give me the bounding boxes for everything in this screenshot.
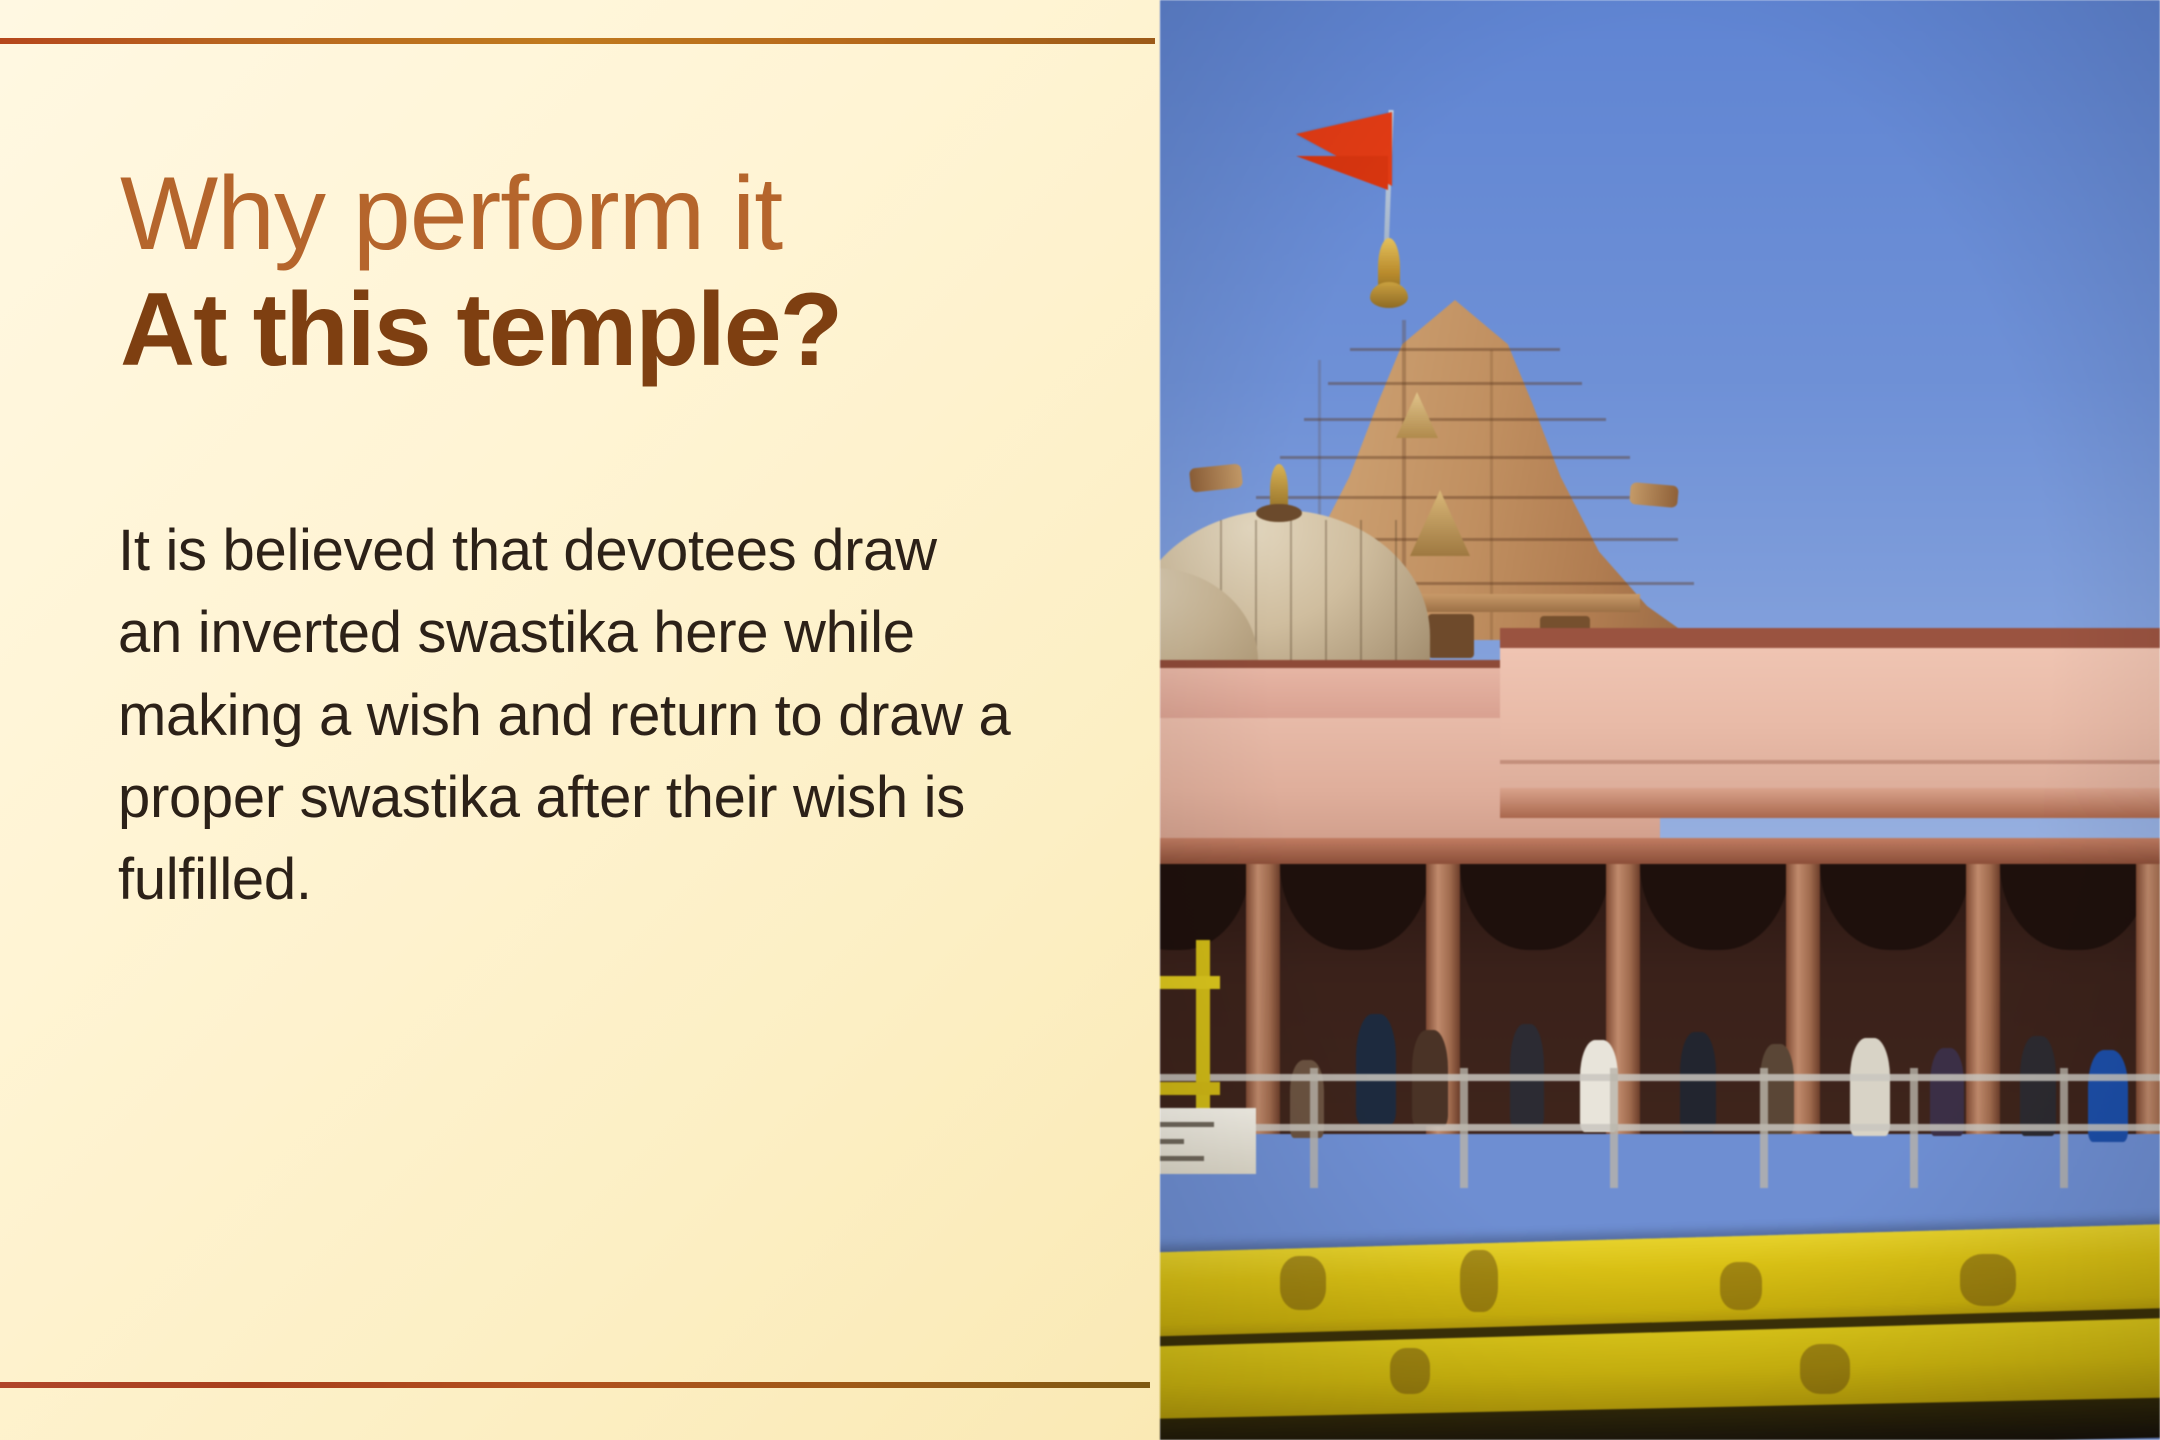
mandapa-cornice: [1500, 628, 2160, 648]
dome-collar: [1256, 504, 1302, 522]
rust-stain: [1280, 1256, 1326, 1310]
body-line: fulfilled.: [118, 839, 1048, 921]
mandapa-eave: [1160, 838, 2160, 864]
shikhara-band: [1256, 496, 1654, 499]
rust-stain: [1800, 1344, 1850, 1394]
body-line: proper swastika after their wish is: [118, 757, 1048, 839]
top-divider-rule: [0, 38, 1155, 44]
shikhara-band: [1350, 348, 1560, 351]
shikhara-recess: [1428, 614, 1474, 658]
body-line: It is believed that devotees draw: [118, 510, 1048, 592]
shikhara-band: [1328, 382, 1582, 385]
dome-rib: [1360, 520, 1362, 680]
mandapa-wall-joint: [1500, 760, 2160, 764]
sign-text-line: [1160, 1122, 1214, 1127]
railing-post: [2060, 1068, 2068, 1188]
railing-post: [1910, 1068, 1918, 1188]
information-sign: [1160, 1108, 1256, 1174]
dome-rib: [1395, 520, 1397, 680]
headline-line-1: Why perform it: [120, 160, 1100, 268]
headline-block: Why perform it At this temple?: [120, 160, 1100, 389]
mandapa-wall: [1500, 648, 2160, 788]
finial-base: [1370, 282, 1408, 308]
slide-root: Why perform it At this temple? It is bel…: [0, 0, 2160, 1440]
stone-bracket: [1629, 482, 1679, 508]
shikhara-band: [1280, 456, 1630, 459]
sign-text-line: [1160, 1139, 1184, 1144]
railing-post: [1610, 1068, 1618, 1188]
stone-pillar: [2136, 864, 2160, 1134]
devotee-silhouette: [2020, 1036, 2056, 1136]
devotee-silhouette: [1930, 1048, 1964, 1136]
stone-pillar: [1966, 864, 2000, 1134]
devotee-silhouette: [1356, 1014, 1396, 1124]
rust-stain: [1720, 1262, 1762, 1310]
devotee-silhouette: [1850, 1038, 1890, 1136]
railing-post: [1310, 1068, 1318, 1188]
body-line: making a wish and return to draw a: [118, 675, 1048, 757]
red-flag-lower-fold: [1296, 156, 1388, 190]
body-line: an inverted swastika here while: [118, 592, 1048, 674]
devotee-silhouette: [1680, 1032, 1716, 1132]
body-paragraph: It is believed that devotees draw an inv…: [118, 510, 1048, 922]
bottom-divider-rule: [0, 1382, 1150, 1388]
dome-rib: [1325, 520, 1327, 680]
railing-post: [1760, 1068, 1768, 1188]
rust-stain: [1390, 1348, 1430, 1394]
dome-rib: [1290, 520, 1292, 680]
rust-stain: [1460, 1250, 1498, 1312]
yellow-scaffold-rail: [1160, 1082, 1220, 1095]
shikhara-band: [1304, 418, 1606, 421]
rust-stain: [1960, 1254, 2016, 1306]
yellow-scaffold-rail: [1160, 976, 1220, 989]
mandapa-eave-upper: [1500, 788, 2160, 818]
text-panel: Why perform it At this temple? It is bel…: [0, 0, 1160, 1440]
stone-pillar: [1246, 864, 1280, 1134]
headline-line-2: At this temple?: [120, 272, 1100, 388]
sign-text-line: [1160, 1156, 1204, 1161]
temple-photograph: [1160, 0, 2160, 1440]
railing-post: [1460, 1068, 1468, 1188]
